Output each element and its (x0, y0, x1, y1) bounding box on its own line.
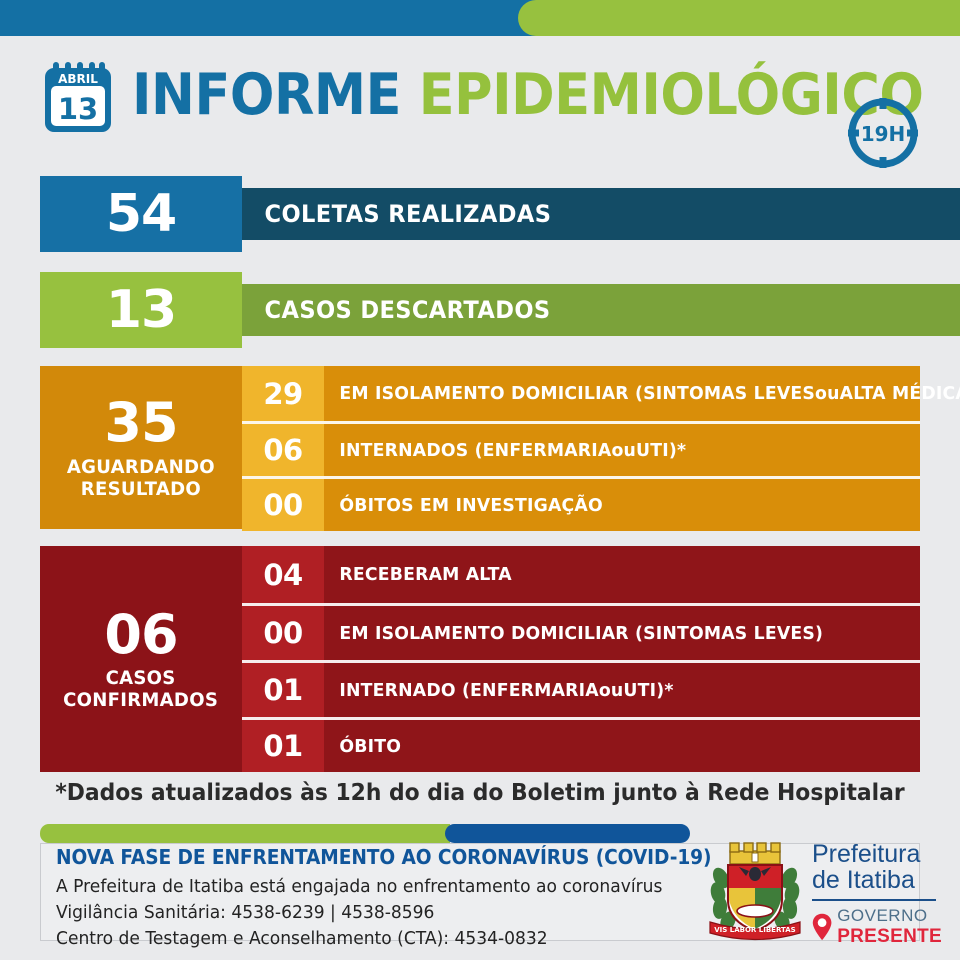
page-header: ABRIL 13 INFORME EPIDEMIOLÓGICO 19H (0, 36, 960, 160)
stat-number-confirmados: 06 (104, 607, 177, 662)
stat-badge-confirmados: 06 CASOS CONFIRMADOS (40, 546, 242, 772)
stat-number-descartados: 13 (106, 280, 176, 340)
sub-number: 06 (242, 424, 324, 476)
clock-icon: 19H (846, 96, 920, 170)
stat-caption-confirmados-line2: CONFIRMADOS (63, 689, 218, 711)
table-row: 00 ÓBITOS EM INVESTIGAÇÃO (242, 476, 920, 531)
sub-label-post: UTI)* (636, 440, 686, 461)
table-row: 01 ÓBITO (242, 717, 920, 772)
footer-accent-green (40, 824, 450, 843)
sub-label-pre: EM ISOLAMENTO DOMICILIAR (SINTOMAS LEVES… (339, 623, 823, 644)
sub-label: EM ISOLAMENTO DOMICILIAR (SINTOMAS LEVES… (324, 366, 960, 421)
sub-label: INTERNADOS (ENFERMARIA ou UTI)* (324, 424, 896, 476)
table-row: 04 RECEBERAM ALTA (242, 546, 920, 603)
governo-word: GOVERNO (837, 906, 942, 926)
footer-text-block: NOVA FASE DE ENFRENTAMENTO AO CORONAVÍRU… (56, 845, 656, 952)
stat-sublist-aguardando: 29 EM ISOLAMENTO DOMICILIAR (SINTOMAS LE… (242, 366, 920, 531)
sub-label-pre: ÓBITOS EM INVESTIGAÇÃO (339, 495, 603, 516)
top-banner (0, 0, 960, 36)
sub-number: 29 (242, 366, 324, 421)
footer-accent-blue (445, 824, 690, 843)
table-row: 29 EM ISOLAMENTO DOMICILIAR (SINTOMAS LE… (242, 366, 920, 421)
footer-headline: NOVA FASE DE ENFRENTAMENTO AO CORONAVÍRU… (56, 845, 614, 869)
prefeitura-name-line1: Prefeitura (812, 842, 942, 868)
banner-blue-strip (0, 0, 560, 36)
sub-label-mid: ou (815, 383, 840, 404)
prefeitura-name-line2: de Itatiba (812, 868, 942, 894)
stat-caption-confirmados-line1: CASOS (106, 667, 176, 689)
stat-caption-confirmados: CASOS CONFIRMADOS (63, 667, 218, 711)
stat-badge-aguardando: 35 AGUARDANDO RESULTADO (40, 366, 242, 529)
map-pin-icon (812, 909, 832, 945)
stat-strip-coletas: COLETAS REALIZADAS (242, 188, 960, 240)
footer-line-3: Centro de Testagem e Aconselhamento (CTA… (56, 926, 626, 952)
sub-label: INTERNADO (ENFERMARIA ou UTI)* (324, 663, 896, 717)
sub-label-pre: ÓBITO (339, 736, 401, 757)
governo-presente-logo: GOVERNO PRESENTE (812, 906, 942, 948)
stat-number-coletas: 54 (106, 184, 176, 244)
footer-line-1: A Prefeitura de Itatiba está engajada no… (56, 874, 626, 900)
presente-word: PRESENTE (837, 926, 942, 948)
sub-number: 01 (242, 663, 324, 717)
stat-badge-descartados: 13 (40, 272, 242, 348)
page-title-informe: INFORME (132, 62, 401, 128)
sub-label-mid: ou (611, 440, 636, 461)
footer-line-2: Vigilância Sanitária: 4538-6239 | 4538-8… (56, 900, 626, 926)
sub-number: 00 (242, 479, 324, 531)
stat-strip-descartados: CASOS DESCARTADOS (242, 284, 960, 336)
coat-of-arms-motto: VIS LABOR LIBERTAS (714, 926, 795, 934)
stat-caption-aguardando-line1: AGUARDANDO (67, 456, 215, 478)
sub-number: 04 (242, 546, 324, 603)
stat-label-descartados: CASOS DESCARTADOS (242, 296, 551, 324)
data-update-note: *Dados atualizados às 12h do dia do Bole… (24, 780, 936, 806)
sub-number: 00 (242, 606, 324, 660)
sub-label-pre: EM ISOLAMENTO DOMICILIAR (SINTOMAS LEVES (339, 383, 815, 404)
calendar-day-label: 13 (58, 92, 98, 126)
sub-label: ÓBITOS EM INVESTIGAÇÃO (324, 479, 896, 531)
sub-label-post: ALTA MÉDICA) (840, 383, 960, 404)
sub-label: EM ISOLAMENTO DOMICILIAR (SINTOMAS LEVES… (324, 606, 896, 660)
page-title: INFORME EPIDEMIOLÓGICO (132, 62, 923, 128)
stat-sublist-confirmados: 04 RECEBERAM ALTA 00 EM ISOLAMENTO DOMIC… (242, 546, 920, 772)
sub-label-pre: INTERNADO (ENFERMARIA (339, 680, 598, 701)
stat-caption-aguardando-line2: RESULTADO (81, 478, 201, 500)
stat-label-coletas: COLETAS REALIZADAS (242, 200, 551, 228)
governo-presente-text: GOVERNO PRESENTE (837, 906, 942, 948)
stat-caption-aguardando: AGUARDANDO RESULTADO (67, 456, 215, 500)
table-row: 06 INTERNADOS (ENFERMARIA ou UTI)* (242, 421, 920, 476)
sub-number: 01 (242, 720, 324, 772)
stat-number-aguardando: 35 (104, 395, 177, 450)
sub-label-pre: INTERNADOS (ENFERMARIA (339, 440, 611, 461)
calendar-icon: ABRIL 13 (42, 60, 114, 136)
coat-of-arms-icon: VIS LABOR LIBERTAS (706, 838, 804, 942)
prefeitura-logo: Prefeitura de Itatiba GOVERNO PRESENTE (812, 842, 942, 948)
stat-badge-coletas: 54 (40, 176, 242, 252)
clock-time-label: 19H (861, 122, 906, 146)
sub-label: RECEBERAM ALTA (324, 546, 896, 603)
banner-green-strip (518, 0, 960, 36)
calendar-month-label: ABRIL (58, 72, 98, 86)
stat-group-aguardando: 35 AGUARDANDO RESULTADO 29 EM ISOLAMENTO… (40, 366, 920, 529)
sub-label: ÓBITO (324, 720, 896, 772)
stat-group-confirmados: 06 CASOS CONFIRMADOS 04 RECEBERAM ALTA 0… (40, 546, 920, 772)
prefeitura-name: Prefeitura de Itatiba (812, 842, 942, 893)
sub-label-post: UTI)* (623, 680, 673, 701)
table-row: 00 EM ISOLAMENTO DOMICILIAR (SINTOMAS LE… (242, 603, 920, 660)
table-row: 01 INTERNADO (ENFERMARIA ou UTI)* (242, 660, 920, 717)
sub-label-pre: RECEBERAM ALTA (339, 564, 512, 585)
sub-label-mid: ou (599, 680, 624, 701)
prefeitura-divider (812, 899, 936, 901)
